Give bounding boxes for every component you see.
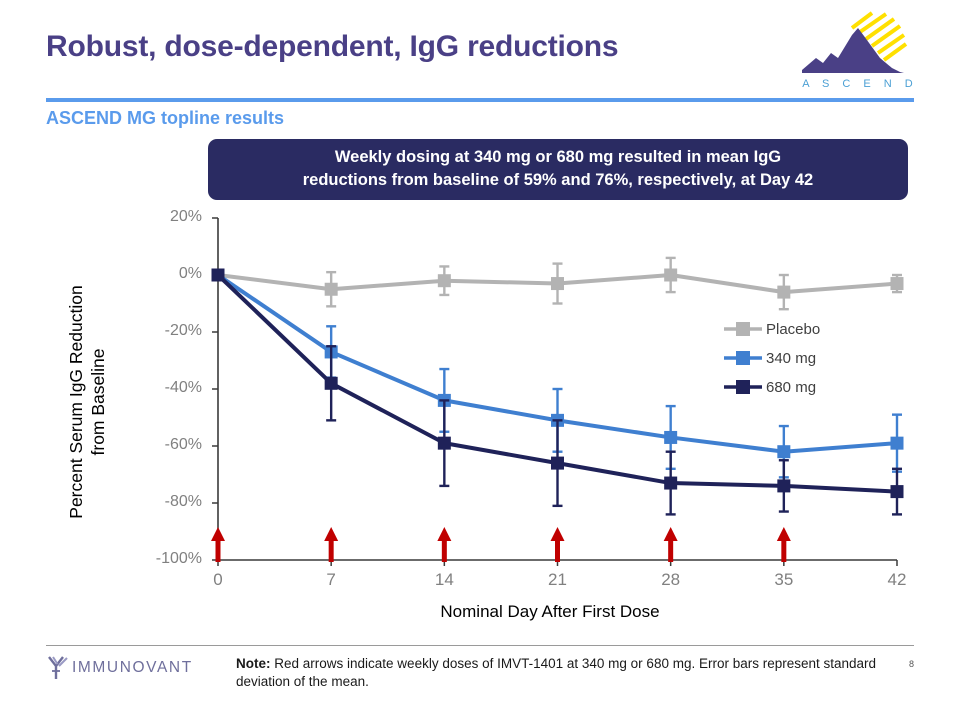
data-point-marker (551, 457, 564, 470)
legend-swatch (722, 378, 764, 396)
data-point-marker (325, 345, 338, 358)
data-point-marker (438, 274, 451, 287)
dose-arrow-icon (777, 527, 791, 562)
x-tick-label: 42 (875, 570, 919, 590)
y-tick-label: -40% (132, 379, 202, 397)
page-number: 8 (909, 659, 914, 669)
page-subtitle: ASCEND MG topline results (46, 108, 284, 129)
legend-swatch (722, 349, 764, 367)
data-point-marker (212, 269, 225, 282)
series-340-mg (212, 269, 904, 478)
data-point-marker (664, 477, 677, 490)
data-point-marker (664, 269, 677, 282)
dose-arrow-icon (211, 527, 225, 562)
data-point-marker (777, 445, 790, 458)
data-point-marker (777, 479, 790, 492)
x-tick-label: 0 (196, 570, 240, 590)
legend-swatch (722, 320, 764, 338)
ascend-logo-text: A S C E N D (802, 78, 918, 90)
series-placebo (212, 258, 904, 309)
footnote-label: Note: (236, 656, 271, 671)
data-point-marker (325, 283, 338, 296)
chart-container (0, 0, 960, 640)
dose-arrow-icon (551, 527, 565, 562)
antibody-icon (46, 655, 70, 681)
x-tick-label: 35 (762, 570, 806, 590)
y-tick-label: -20% (132, 322, 202, 340)
header-divider (46, 98, 914, 102)
x-tick-label: 14 (422, 570, 466, 590)
data-point-marker (325, 377, 338, 390)
immunovant-wordmark: IMMUNOVANT (72, 659, 193, 677)
y-tick-label: 0% (132, 265, 202, 283)
y-axis-title: Percent Serum IgG Reduction from Baselin… (65, 252, 109, 552)
x-axis-title: Nominal Day After First Dose (330, 602, 770, 622)
x-tick-label: 21 (536, 570, 580, 590)
data-point-marker (891, 437, 904, 450)
data-point-marker (891, 277, 904, 290)
series-line (218, 275, 897, 292)
footnote-text: Red arrows indicate weekly doses of IMVT… (236, 656, 876, 689)
data-point-marker (777, 286, 790, 299)
y-axis-title-line2: from Baseline (87, 252, 109, 552)
data-point-marker (891, 485, 904, 498)
line-chart (0, 0, 960, 640)
legend-label-680-mg: 680 mg (766, 379, 816, 396)
footnote: Note: Red arrows indicate weekly doses o… (236, 655, 881, 691)
dose-arrow-icon (324, 527, 338, 562)
ascend-logo-icon: A S C E N D (800, 8, 920, 90)
y-axis-title-line1: Percent Serum IgG Reduction (65, 252, 87, 552)
legend-label-340-mg: 340 mg (766, 350, 816, 367)
data-point-marker (551, 414, 564, 427)
data-point-marker (438, 394, 451, 407)
y-tick-label: -60% (132, 436, 202, 454)
callout-line-1: Weekly dosing at 340 mg or 680 mg result… (220, 146, 896, 169)
immunovant-logo: IMMUNOVANT (46, 655, 216, 683)
data-point-marker (212, 269, 225, 282)
callout-line-2: reductions from baseline of 59% and 76%,… (220, 169, 896, 192)
y-tick-label: -80% (132, 493, 202, 511)
x-tick-label: 7 (309, 570, 353, 590)
data-point-marker (212, 269, 225, 282)
data-point-marker (551, 277, 564, 290)
dose-arrow-icon (664, 527, 678, 562)
y-tick-label: -100% (132, 550, 202, 568)
data-point-marker (664, 431, 677, 444)
page-title: Robust, dose-dependent, IgG reductions (46, 30, 618, 64)
x-tick-label: 28 (649, 570, 693, 590)
data-point-marker (438, 437, 451, 450)
footer-divider (46, 645, 914, 646)
legend-label-placebo: Placebo (766, 321, 820, 338)
y-tick-label: 20% (132, 208, 202, 226)
callout-banner: Weekly dosing at 340 mg or 680 mg result… (208, 139, 908, 200)
dose-arrow-icon (437, 527, 451, 562)
